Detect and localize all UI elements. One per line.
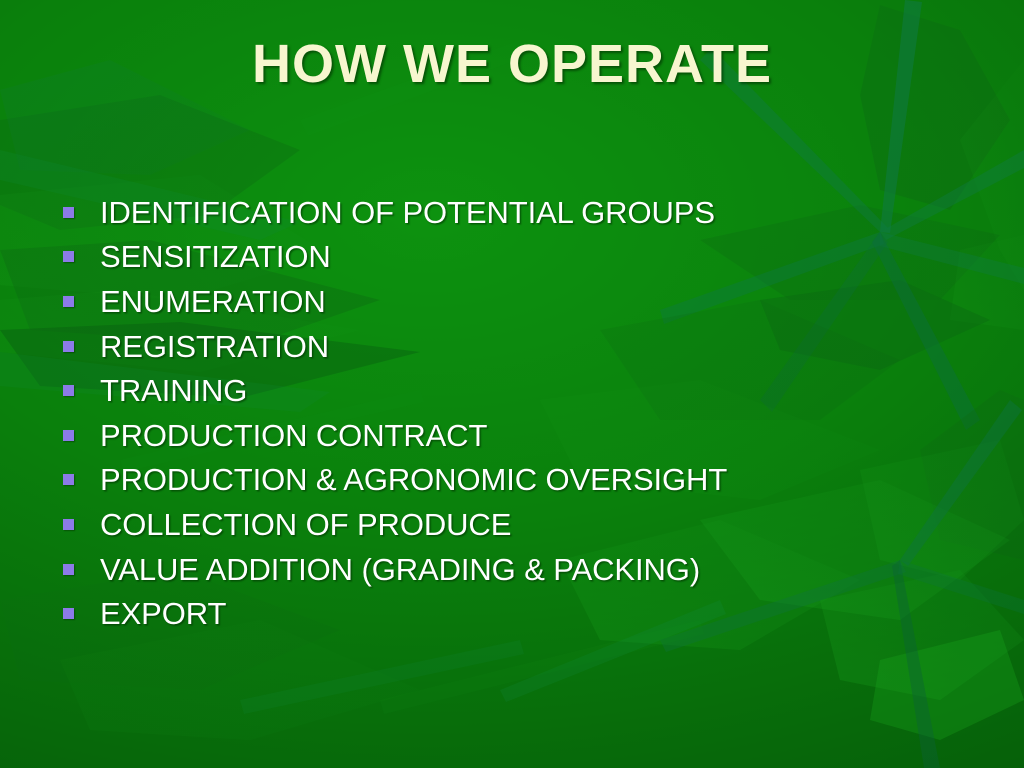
presentation-slide: HOW WE OPERATE IDENTIFICATION OF POTENTI…	[0, 0, 1024, 768]
list-item-label: COLLECTION OF PRODUCE	[100, 509, 511, 540]
list-item: VALUE ADDITION (GRADING & PACKING)	[63, 547, 984, 592]
square-bullet-icon	[63, 608, 74, 619]
square-bullet-icon	[63, 430, 74, 441]
square-bullet-icon	[63, 251, 74, 262]
square-bullet-icon	[63, 564, 74, 575]
list-item-label: PRODUCTION CONTRACT	[100, 420, 487, 451]
list-item-label: VALUE ADDITION (GRADING & PACKING)	[100, 554, 700, 585]
list-item-label: TRAINING	[100, 375, 247, 406]
square-bullet-icon	[63, 474, 74, 485]
square-bullet-icon	[63, 341, 74, 352]
square-bullet-icon	[63, 385, 74, 396]
list-item: ENUMERATION	[63, 279, 984, 324]
list-item-label: EXPORT	[100, 598, 226, 629]
list-item: IDENTIFICATION OF POTENTIAL GROUPS	[63, 190, 984, 235]
square-bullet-icon	[63, 519, 74, 530]
list-item-label: ENUMERATION	[100, 286, 326, 317]
bullet-list: IDENTIFICATION OF POTENTIAL GROUPS SENSI…	[63, 190, 984, 636]
list-item-label: IDENTIFICATION OF POTENTIAL GROUPS	[100, 197, 715, 228]
square-bullet-icon	[63, 207, 74, 218]
list-item: SENSITIZATION	[63, 235, 984, 280]
list-item-label: PRODUCTION & AGRONOMIC OVERSIGHT	[100, 464, 727, 495]
list-item: TRAINING	[63, 368, 984, 413]
list-item: EXPORT	[63, 591, 984, 636]
list-item: PRODUCTION CONTRACT	[63, 413, 984, 458]
square-bullet-icon	[63, 296, 74, 307]
slide-title: HOW WE OPERATE	[0, 36, 1024, 93]
list-item-label: REGISTRATION	[100, 331, 329, 362]
list-item: COLLECTION OF PRODUCE	[63, 502, 984, 547]
list-item: PRODUCTION & AGRONOMIC OVERSIGHT	[63, 458, 984, 503]
list-item: REGISTRATION	[63, 324, 984, 369]
list-item-label: SENSITIZATION	[100, 241, 331, 272]
